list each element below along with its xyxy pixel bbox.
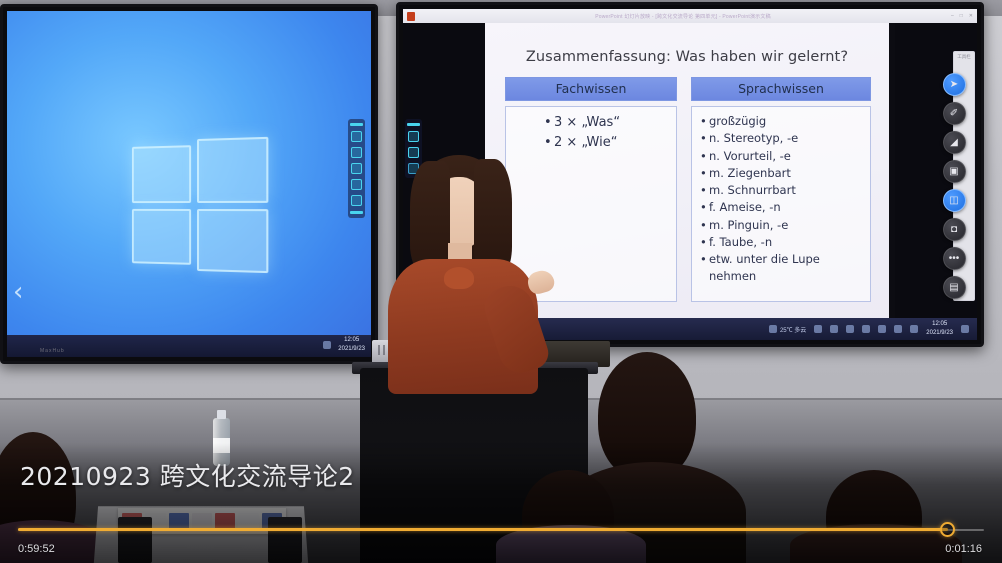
- restore-icon[interactable]: □: [960, 13, 963, 19]
- teacher-figure: [382, 155, 557, 385]
- pen-icon[interactable]: [323, 341, 331, 349]
- keyboard-icon[interactable]: [894, 325, 902, 333]
- annotation-panel-label: 工具栏: [954, 52, 974, 60]
- progress-fill: [18, 528, 948, 531]
- left-screen-side-toolbar[interactable]: [348, 119, 365, 218]
- video-title: 20210923 跨文化交流导论2: [20, 457, 355, 493]
- show-desktop-icon[interactable]: [961, 325, 969, 333]
- clock-date: 2021/9/23: [926, 329, 953, 338]
- left-display-brand: MaxHub: [40, 348, 65, 354]
- whiteboard-icon[interactable]: [408, 131, 419, 142]
- pen-icon[interactable]: [878, 325, 886, 333]
- cursor-tool-icon[interactable]: ➤: [943, 73, 966, 96]
- weather-icon: [769, 325, 777, 333]
- left-taskbar-clock[interactable]: 12:05 2021/9/23: [338, 336, 365, 354]
- page-tool-icon[interactable]: ◫: [943, 189, 966, 212]
- windows-desktop-wallpaper: ‹: [7, 11, 371, 357]
- chevron-up-icon[interactable]: [814, 325, 822, 333]
- back-icon[interactable]: [351, 179, 362, 190]
- powerpoint-icon: [407, 12, 415, 21]
- menu-bar-icon[interactable]: [407, 123, 420, 126]
- window-controls[interactable]: – □ ✕: [951, 13, 973, 19]
- window-title: PowerPoint 幻灯片放映 - [跨文化交流导论 第四单元] - Powe…: [419, 13, 947, 20]
- progress-handle[interactable]: [940, 522, 955, 537]
- weather-text: 25℃ 多云: [780, 325, 806, 334]
- capture-tool-icon[interactable]: ◘: [943, 218, 966, 241]
- weather-widget[interactable]: 25℃ 多云: [769, 325, 806, 334]
- windows-logo-icon: [130, 137, 270, 276]
- list-item: f. Ameise, -n: [700, 199, 864, 216]
- elapsed-time: 0:59:52: [18, 543, 55, 555]
- annotate-icon[interactable]: [351, 147, 362, 158]
- left-display-screen[interactable]: ‹ 12:05 2021/9/23: [7, 11, 371, 357]
- list-item: großzügig: [700, 113, 864, 130]
- battery-icon[interactable]: [910, 325, 918, 333]
- remaining-time: 0:01:16: [945, 543, 982, 555]
- prev-chevron-icon[interactable]: ‹: [13, 279, 31, 305]
- column-sprachwissen: Sprachwissen großzügig n. Stereotyp, -e …: [691, 77, 871, 302]
- list-item: m. Pinguin, -e: [700, 217, 864, 234]
- more-tool-icon[interactable]: •••: [943, 247, 966, 270]
- list-item: 2 × „Wie“: [514, 133, 670, 153]
- left-taskbar-tray[interactable]: 12:05 2021/9/23: [323, 336, 365, 354]
- shape-tool-icon[interactable]: ▣: [943, 160, 966, 183]
- menu-bar-icon-2[interactable]: [350, 211, 363, 214]
- list-item: f. Taube, -n: [700, 234, 864, 251]
- video-frame: ‹ 12:05 2021/9/23: [0, 0, 1002, 563]
- eraser-tool-icon[interactable]: ◢: [943, 131, 966, 154]
- shield-icon[interactable]: [830, 325, 838, 333]
- right-taskbar-clock[interactable]: 12:05 2021/9/23: [926, 320, 953, 337]
- list-item: etw. unter die Lupe nehmen: [700, 251, 864, 286]
- list-item: m. Schnurrbart: [700, 182, 864, 199]
- progress-bar[interactable]: [0, 528, 1002, 532]
- clock-time: 12:05: [926, 320, 953, 329]
- left-display[interactable]: ‹ 12:05 2021/9/23: [0, 4, 378, 364]
- note-tool-icon[interactable]: ▤: [943, 276, 966, 299]
- close-icon[interactable]: ✕: [969, 13, 973, 19]
- slide-title: Zusammenfassung: Was haben wir gelernt?: [485, 49, 889, 65]
- list-item: n. Stereotyp, -e: [700, 130, 864, 147]
- pen-tool-icon[interactable]: ✐: [943, 102, 966, 125]
- slide-two-column-table: Fachwissen 3 × „Was“ 2 × „Wie“ Sprach: [505, 77, 871, 302]
- home-icon[interactable]: [351, 163, 362, 174]
- column-header-fachwissen: Fachwissen: [505, 77, 677, 101]
- list-item: 3 × „Was“: [514, 113, 670, 133]
- list-item: m. Ziegenbart: [700, 165, 864, 182]
- apps-icon[interactable]: [351, 195, 362, 206]
- minimize-icon[interactable]: –: [951, 13, 954, 19]
- column-body-sprachwissen: großzügig n. Stereotyp, -e n. Vorurteil,…: [691, 106, 871, 302]
- powerpoint-titlebar[interactable]: PowerPoint 幻灯片放映 - [跨文化交流导论 第四单元] - Powe…: [403, 9, 977, 23]
- list-item: n. Vorurteil, -e: [700, 148, 864, 165]
- clock-date: 2021/9/23: [338, 345, 365, 354]
- column-header-sprachwissen: Sprachwissen: [691, 77, 871, 101]
- whiteboard-icon[interactable]: [351, 131, 362, 142]
- message-icon[interactable]: [862, 325, 870, 333]
- annotation-float-toolbar[interactable]: ➤ ✐ ◢ ▣ ◫ ◘ ••• ▤: [939, 73, 969, 299]
- network-icon[interactable]: [846, 325, 854, 333]
- menu-bar-icon[interactable]: [350, 123, 363, 126]
- clock-time: 12:05: [338, 336, 365, 345]
